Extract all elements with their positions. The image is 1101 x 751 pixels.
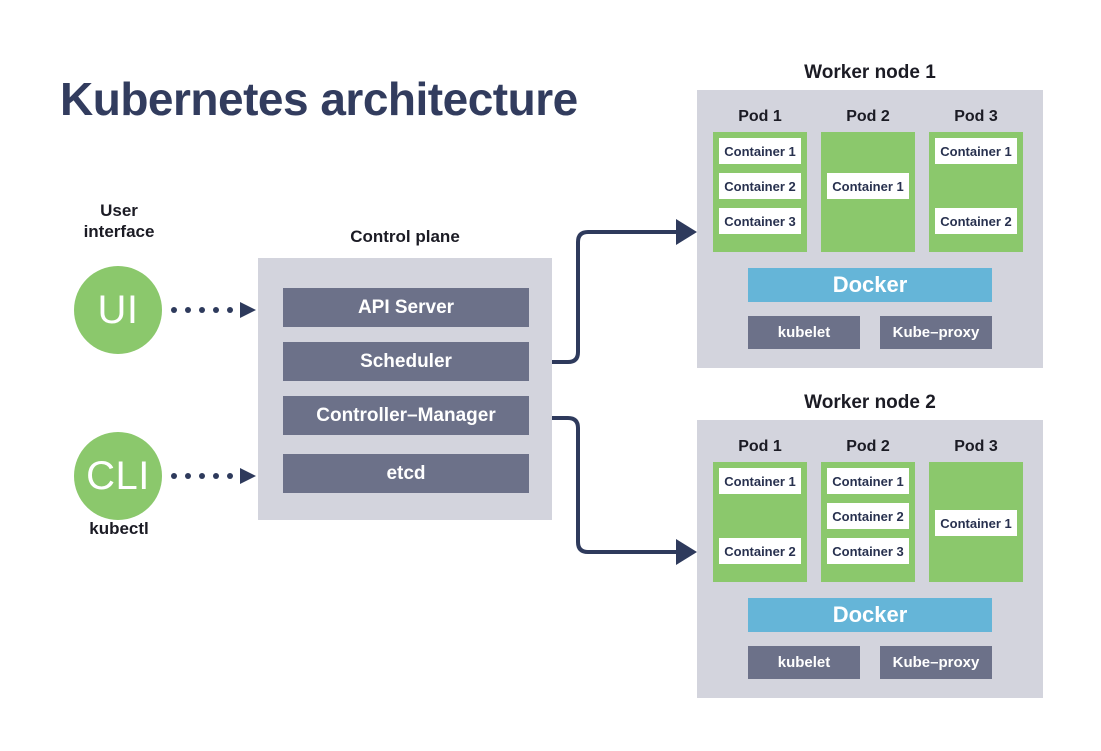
pod-node1-pod2[interactable]: Container 1: [821, 132, 915, 252]
container-chip[interactable]: Container 1: [719, 468, 801, 494]
container-chip[interactable]: Container 2: [827, 503, 909, 529]
worker-node-2-title: Worker node 2: [697, 392, 1043, 414]
user-interface-label-line1: User: [59, 200, 179, 221]
component-label: Scheduler: [360, 351, 452, 373]
kube-proxy-label: Kube–proxy: [893, 654, 980, 671]
control-plane-box: API Server Scheduler Controller–Manager …: [258, 258, 552, 520]
pod-node1-pod1[interactable]: Container 1 Container 2 Container 3: [713, 132, 807, 252]
control-plane-component-scheduler[interactable]: Scheduler: [283, 342, 529, 381]
pod-node2-pod3[interactable]: Container 1: [929, 462, 1023, 582]
worker-node-2-box: Pod 1 Container 1 Container 2 Pod 2 Cont…: [697, 420, 1043, 698]
pod-label-node2-pod1: Pod 1: [713, 438, 807, 456]
kubectl-label: kubectl: [59, 518, 179, 539]
docker-runtime-node2[interactable]: Docker: [748, 598, 992, 632]
kube-proxy-node2[interactable]: Kube–proxy: [880, 646, 992, 679]
dotted-arrow-icon-ui: [170, 302, 256, 318]
docker-runtime-node1[interactable]: Docker: [748, 268, 992, 302]
pod-node2-pod1[interactable]: Container 1 Container 2: [713, 462, 807, 582]
container-chip[interactable]: Container 3: [719, 208, 801, 234]
user-interface-label-line2: interface: [59, 221, 179, 242]
container-chip[interactable]: Container 1: [935, 510, 1017, 536]
kubelet-label: kubelet: [778, 324, 831, 341]
pod-label-node1-pod2: Pod 2: [821, 108, 915, 126]
pod-label-node2-pod3: Pod 3: [929, 438, 1023, 456]
container-chip[interactable]: Container 3: [827, 538, 909, 564]
ui-node[interactable]: UI: [74, 266, 162, 354]
pod-node1-pod3[interactable]: Container 1 Container 2: [929, 132, 1023, 252]
container-chip[interactable]: Container 2: [719, 538, 801, 564]
connector-controller-manager-to-node2: [552, 418, 676, 552]
cli-node-label: CLI: [86, 454, 150, 499]
docker-label: Docker: [833, 602, 908, 628]
control-plane-label: Control plane: [258, 227, 552, 247]
worker-node-1-box: Pod 1 Container 1 Container 2 Container …: [697, 90, 1043, 368]
pod-label-node2-pod2: Pod 2: [821, 438, 915, 456]
docker-label: Docker: [833, 272, 908, 298]
container-chip[interactable]: Container 1: [827, 173, 909, 199]
kubelet-label: kubelet: [778, 654, 831, 671]
container-chip[interactable]: Container 1: [935, 138, 1017, 164]
kube-proxy-label: Kube–proxy: [893, 324, 980, 341]
arrowhead-node2-icon: [676, 539, 697, 565]
component-label: Controller–Manager: [316, 405, 495, 427]
ui-node-label: UI: [98, 288, 139, 333]
pod-label-node1-pod3: Pod 3: [929, 108, 1023, 126]
connector-scheduler-to-node1: [552, 232, 676, 362]
pod-node2-pod2[interactable]: Container 1 Container 2 Container 3: [821, 462, 915, 582]
user-interface-label: User interface: [59, 200, 179, 243]
diagram-canvas: Kubernetes architecture User interface U…: [0, 0, 1101, 751]
dotted-arrow-icon-cli: [170, 468, 256, 484]
kube-proxy-node1[interactable]: Kube–proxy: [880, 316, 992, 349]
component-label: etcd: [386, 463, 425, 485]
arrowhead-node1-icon: [676, 219, 697, 245]
page-title: Kubernetes architecture: [60, 72, 578, 126]
pod-label-node1-pod1: Pod 1: [713, 108, 807, 126]
cli-node[interactable]: CLI: [74, 432, 162, 520]
kubelet-node1[interactable]: kubelet: [748, 316, 860, 349]
control-plane-component-api-server[interactable]: API Server: [283, 288, 529, 327]
component-label: API Server: [358, 297, 454, 319]
container-chip[interactable]: Container 2: [719, 173, 801, 199]
container-chip[interactable]: Container 1: [827, 468, 909, 494]
container-chip[interactable]: Container 1: [719, 138, 801, 164]
worker-node-1-title: Worker node 1: [697, 62, 1043, 84]
kubelet-node2[interactable]: kubelet: [748, 646, 860, 679]
control-plane-component-etcd[interactable]: etcd: [283, 454, 529, 493]
container-chip[interactable]: Container 2: [935, 208, 1017, 234]
control-plane-component-controller-manager[interactable]: Controller–Manager: [283, 396, 529, 435]
